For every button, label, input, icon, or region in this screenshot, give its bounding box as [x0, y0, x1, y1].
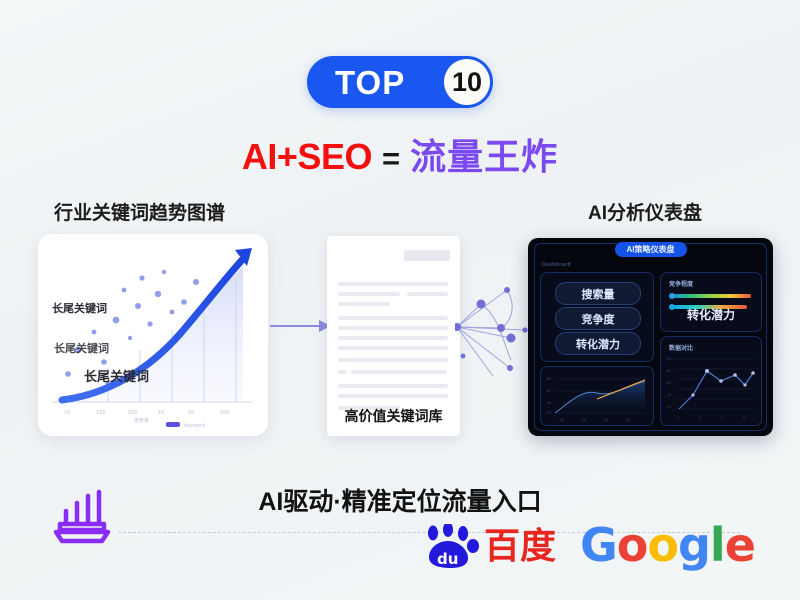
competition-gauge-panel: 竞争程度 转化潜力: [660, 272, 762, 332]
baidu-latin-text: du: [437, 550, 458, 568]
svg-text:D: D: [743, 416, 746, 420]
keyword-trend-card: 10100 5001K 5K10K keyword 搜索量 长尾关键词 长尾关键…: [38, 234, 268, 436]
svg-text:10: 10: [64, 410, 70, 416]
top-badge-number-circle: 10: [444, 59, 490, 105]
svg-text:80: 80: [667, 369, 671, 373]
svg-text:3月: 3月: [581, 418, 587, 422]
metric-pill-conversion[interactable]: 转化潜力: [555, 332, 641, 355]
bar-chart-pedestal-icon: [46, 484, 118, 546]
svg-text:60: 60: [667, 381, 671, 385]
gauge-panel-title: 竞争程度: [669, 279, 693, 288]
svg-text:80: 80: [547, 377, 551, 381]
doc-header-chip: [404, 250, 450, 261]
svg-text:500: 500: [128, 410, 138, 416]
google-letter-o1: o: [617, 518, 648, 572]
keyword-library-document: 高价值关键词库: [327, 236, 460, 436]
svg-text:7月: 7月: [625, 418, 631, 422]
google-letter-l: l: [710, 518, 725, 572]
svg-text:keyword: keyword: [184, 423, 205, 429]
gauge-overlay-text: 转化潜力: [661, 306, 761, 323]
svg-text:1月: 1月: [559, 418, 565, 422]
line-panel-title: 数据对比: [669, 343, 693, 352]
gauge-bar-1: [671, 294, 751, 298]
headline-equals: =: [382, 141, 400, 176]
metric-pills-panel: 搜索量 竞争度 转化潜力: [540, 272, 654, 362]
baidu-chinese-text: 百度: [484, 529, 556, 565]
ai-dashboard: AI策略仪表盘 Dashboard 搜索量 竞争度 转化潜力: [528, 238, 773, 436]
svg-text:40: 40: [667, 393, 671, 397]
svg-text:40: 40: [547, 401, 551, 405]
gauge-marker-1: [669, 293, 675, 299]
keyword-label-3: 长尾关键词: [84, 366, 149, 385]
google-letter-o2: o: [647, 518, 678, 572]
svg-text:A: A: [677, 416, 680, 420]
svg-text:5月: 5月: [603, 418, 609, 422]
comparison-line-panel: 数据对比 10080 6040 20 AB C: [660, 336, 762, 426]
top-badge-number: 10: [452, 69, 482, 96]
left-section-caption: 行业关键词趋势图谱: [54, 198, 225, 225]
google-letter-g2: g: [678, 518, 710, 572]
doc-caption: 高价值关键词库: [327, 406, 460, 426]
keyword-label-2: 长尾关键词: [54, 340, 109, 356]
flow-arrow-icon: [270, 318, 332, 334]
headline-right: 流量王炸: [410, 136, 558, 177]
top-rank-badge: TOP 10: [307, 56, 493, 108]
baidu-paw-icon: du: [420, 524, 482, 570]
svg-text:10K: 10K: [220, 410, 230, 416]
svg-text:20: 20: [547, 411, 551, 415]
bottom-tagline: AI驱动·精准定位流量入口: [0, 482, 800, 518]
svg-text:C: C: [721, 416, 724, 420]
svg-text:60: 60: [547, 389, 551, 393]
svg-text:B: B: [699, 416, 702, 420]
svg-text:100: 100: [96, 410, 106, 416]
trend-area-chart: 8060 4020 1月3月 5月7月: [541, 367, 653, 425]
right-section-caption: AI分析仪表盘: [588, 198, 702, 225]
google-logo: Google: [580, 522, 755, 568]
google-letter-e: e: [725, 518, 755, 572]
google-letter-g1: G: [580, 518, 617, 572]
metric-pill-search-volume[interactable]: 搜索量: [555, 282, 641, 305]
top-badge-word: TOP: [335, 66, 405, 99]
dashboard-title-badge: AI策略仪表盘: [615, 242, 687, 257]
svg-text:搜索量: 搜索量: [134, 417, 149, 424]
svg-text:5K: 5K: [188, 410, 195, 416]
keyword-label-1: 长尾关键词: [52, 300, 107, 316]
slide-canvas: TOP 10 AI+SEO=流量王炸 行业关键词趋势图谱 AI分析仪表盘: [0, 0, 800, 600]
search-engine-logos: du 百度 Google: [420, 520, 750, 582]
baidu-logo: du 百度: [420, 524, 556, 570]
trend-area-panel: 8060 4020 1月3月 5月7月: [540, 366, 654, 426]
svg-text:1K: 1K: [158, 410, 165, 416]
page-title: AI+SEO=流量王炸: [0, 128, 800, 180]
keyword-trend-chart: 10100 5001K 5K10K keyword 搜索量: [38, 234, 268, 436]
dashboard-subtitle: Dashboard: [542, 262, 571, 268]
svg-text:20: 20: [667, 405, 671, 409]
svg-text:100: 100: [666, 357, 672, 361]
metric-pill-competition[interactable]: 竞争度: [555, 307, 641, 330]
headline-left: AI+SEO: [242, 136, 372, 177]
